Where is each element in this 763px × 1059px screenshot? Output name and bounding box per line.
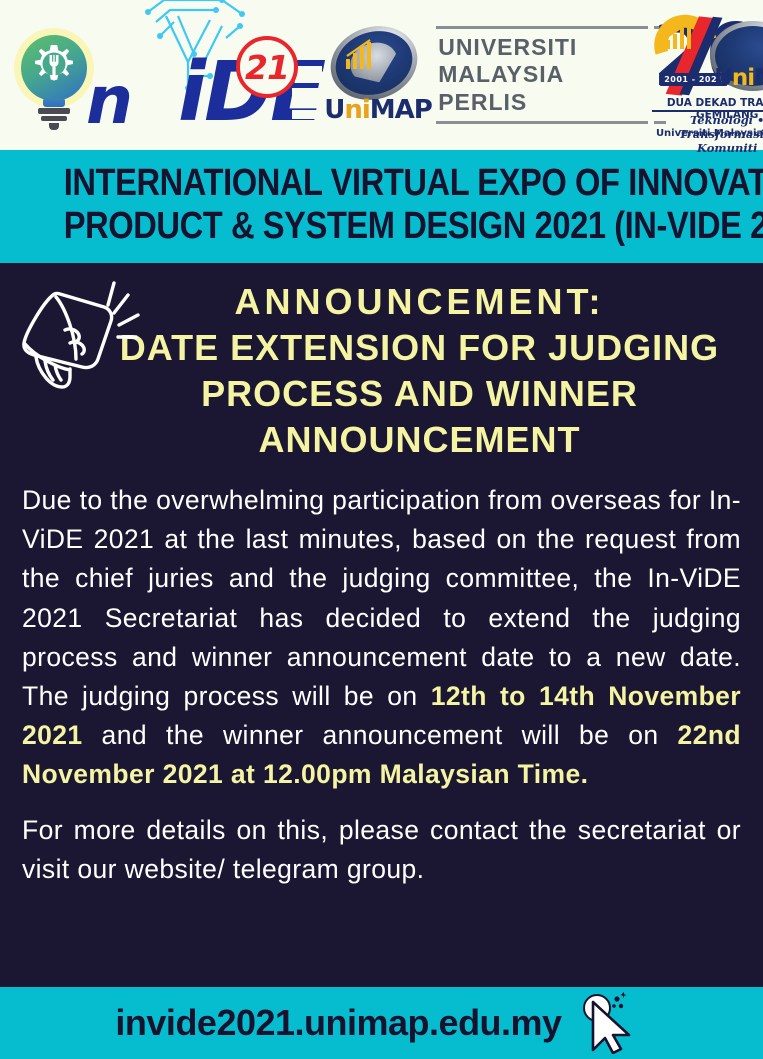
announcement-heading-line-4: ANNOUNCEMENT (98, 417, 741, 463)
body-p1-part1: Due to the overwhelming participation fr… (22, 485, 741, 711)
anniversary-tagline-3: Universiti Malaysia Perlis (648, 128, 763, 139)
announcement-heading-line-1: ANNOUNCEMENT: (98, 279, 741, 325)
mouse-cursor-click-icon (576, 992, 648, 1054)
anniversary-unimap-wordmark: UniMAP (714, 65, 763, 91)
footer-bar: invide2021.unimap.edu.my (0, 987, 763, 1059)
megaphone-icon (12, 271, 142, 391)
unimap-name: UNIVERSITI MALAYSIA PERLIS (436, 29, 648, 120)
body-paragraph-1: Due to the overwhelming participation fr… (22, 481, 741, 795)
anniversary-divider (652, 110, 763, 112)
body-p1-part3: . (581, 759, 589, 789)
event-title-line-1: INTERNATIONAL VIRTUAL EXPO OF INNOVATION (64, 162, 700, 205)
announcement-section: ANNOUNCEMENT: DATE EXTENSION FOR JUDGING… (0, 263, 763, 469)
unimap-bars-icon (344, 39, 384, 71)
invide-wordmark: n V iDE 21 (86, 52, 324, 134)
event-title-banner: INTERNATIONAL VIRTUAL EXPO OF INNOVATION… (0, 150, 763, 263)
unimap-rule-top (436, 26, 648, 29)
website-url[interactable]: invide2021.unimap.edu.my (115, 1002, 561, 1044)
invide-letter-n: n (86, 68, 130, 134)
unimap-rule-bottom (436, 121, 648, 124)
anniversary-20-logo: 20 2001 - 2021 UniMAP DUA DEKAD TRADISI … (648, 9, 749, 141)
logo-header-bar: n V iDE 21 (0, 0, 763, 150)
invide-logo: n V iDE 21 (8, 16, 324, 134)
badge-21: 21 (236, 36, 298, 98)
body-p1-part2: and the winner announcement will be on (83, 720, 678, 750)
event-title-line-2: PRODUCT & SYSTEM DESIGN 2021 (IN-VIDE 20… (64, 205, 700, 248)
invide-letter-v: V (130, 68, 182, 134)
poster: n V iDE 21 (0, 0, 763, 1059)
announcement-heading-line-2: DATE EXTENSION FOR JUDGING (98, 325, 741, 371)
anniversary-bars-icon (664, 21, 702, 51)
gear-wrench-icon (29, 43, 79, 93)
announcement-heading-line-3: PROCESS AND WINNER (98, 371, 741, 417)
body-text-section: Due to the overwhelming participation fr… (0, 469, 763, 987)
body-paragraph-2: For more details on this, please contact… (22, 811, 741, 889)
unimap-wordmark: UniMAP (324, 95, 432, 125)
unimap-logo: UniMAP UNIVERSITI MALAYSIA PERLIS (324, 21, 648, 129)
